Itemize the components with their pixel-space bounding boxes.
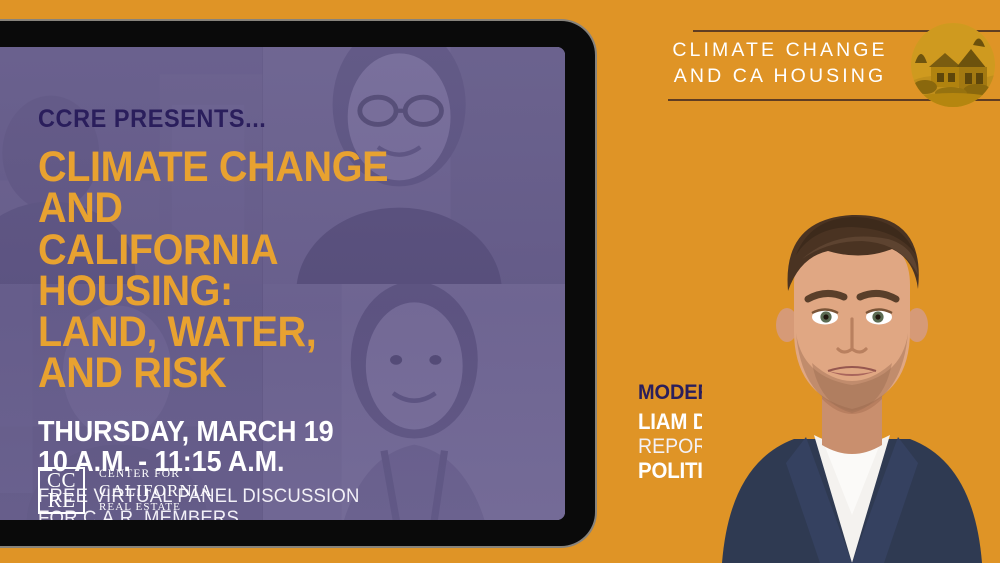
moderator-headshot bbox=[702, 163, 1000, 563]
ccre-line-1: CENTER FOR bbox=[99, 468, 213, 481]
ccre-line-2: CALIFORNIA bbox=[99, 481, 213, 501]
ccre-logo-mark: CC RE bbox=[38, 467, 85, 514]
page-title: CLIMATE CHANGE AND CALIFORNIA HOUSING: L… bbox=[38, 147, 470, 395]
eyebrow-text: CCRE PRESENTS... bbox=[38, 107, 480, 132]
house-illustration-icon bbox=[911, 23, 995, 107]
header-title: CLIMATE CHANGE AND CA HOUSING bbox=[646, 38, 914, 89]
header-banner: CLIMATE CHANGE AND CA HOUSING bbox=[630, 18, 1000, 110]
tablet-screen: CCRE PRESENTS... CLIMATE CHANGE AND CALI… bbox=[0, 47, 565, 520]
ccre-mark-bottom: RE bbox=[48, 491, 76, 511]
ccre-logo-wordmark: CENTER FOR CALIFORNIA REAL ESTATE bbox=[99, 468, 213, 514]
tablet-device-frame: CCRE PRESENTS... CLIMATE CHANGE AND CALI… bbox=[0, 21, 595, 546]
ccre-line-3: REAL ESTATE bbox=[99, 501, 213, 514]
promo-graphic: CCRE PRESENTS... CLIMATE CHANGE AND CALI… bbox=[0, 0, 1000, 563]
headshot-illustration bbox=[702, 163, 1000, 563]
ccre-logo: CC RE CENTER FOR CALIFORNIA REAL ESTATE bbox=[38, 467, 213, 514]
house-badge-art bbox=[911, 23, 995, 107]
screen-copy: CCRE PRESENTS... CLIMATE CHANGE AND CALI… bbox=[38, 107, 508, 520]
